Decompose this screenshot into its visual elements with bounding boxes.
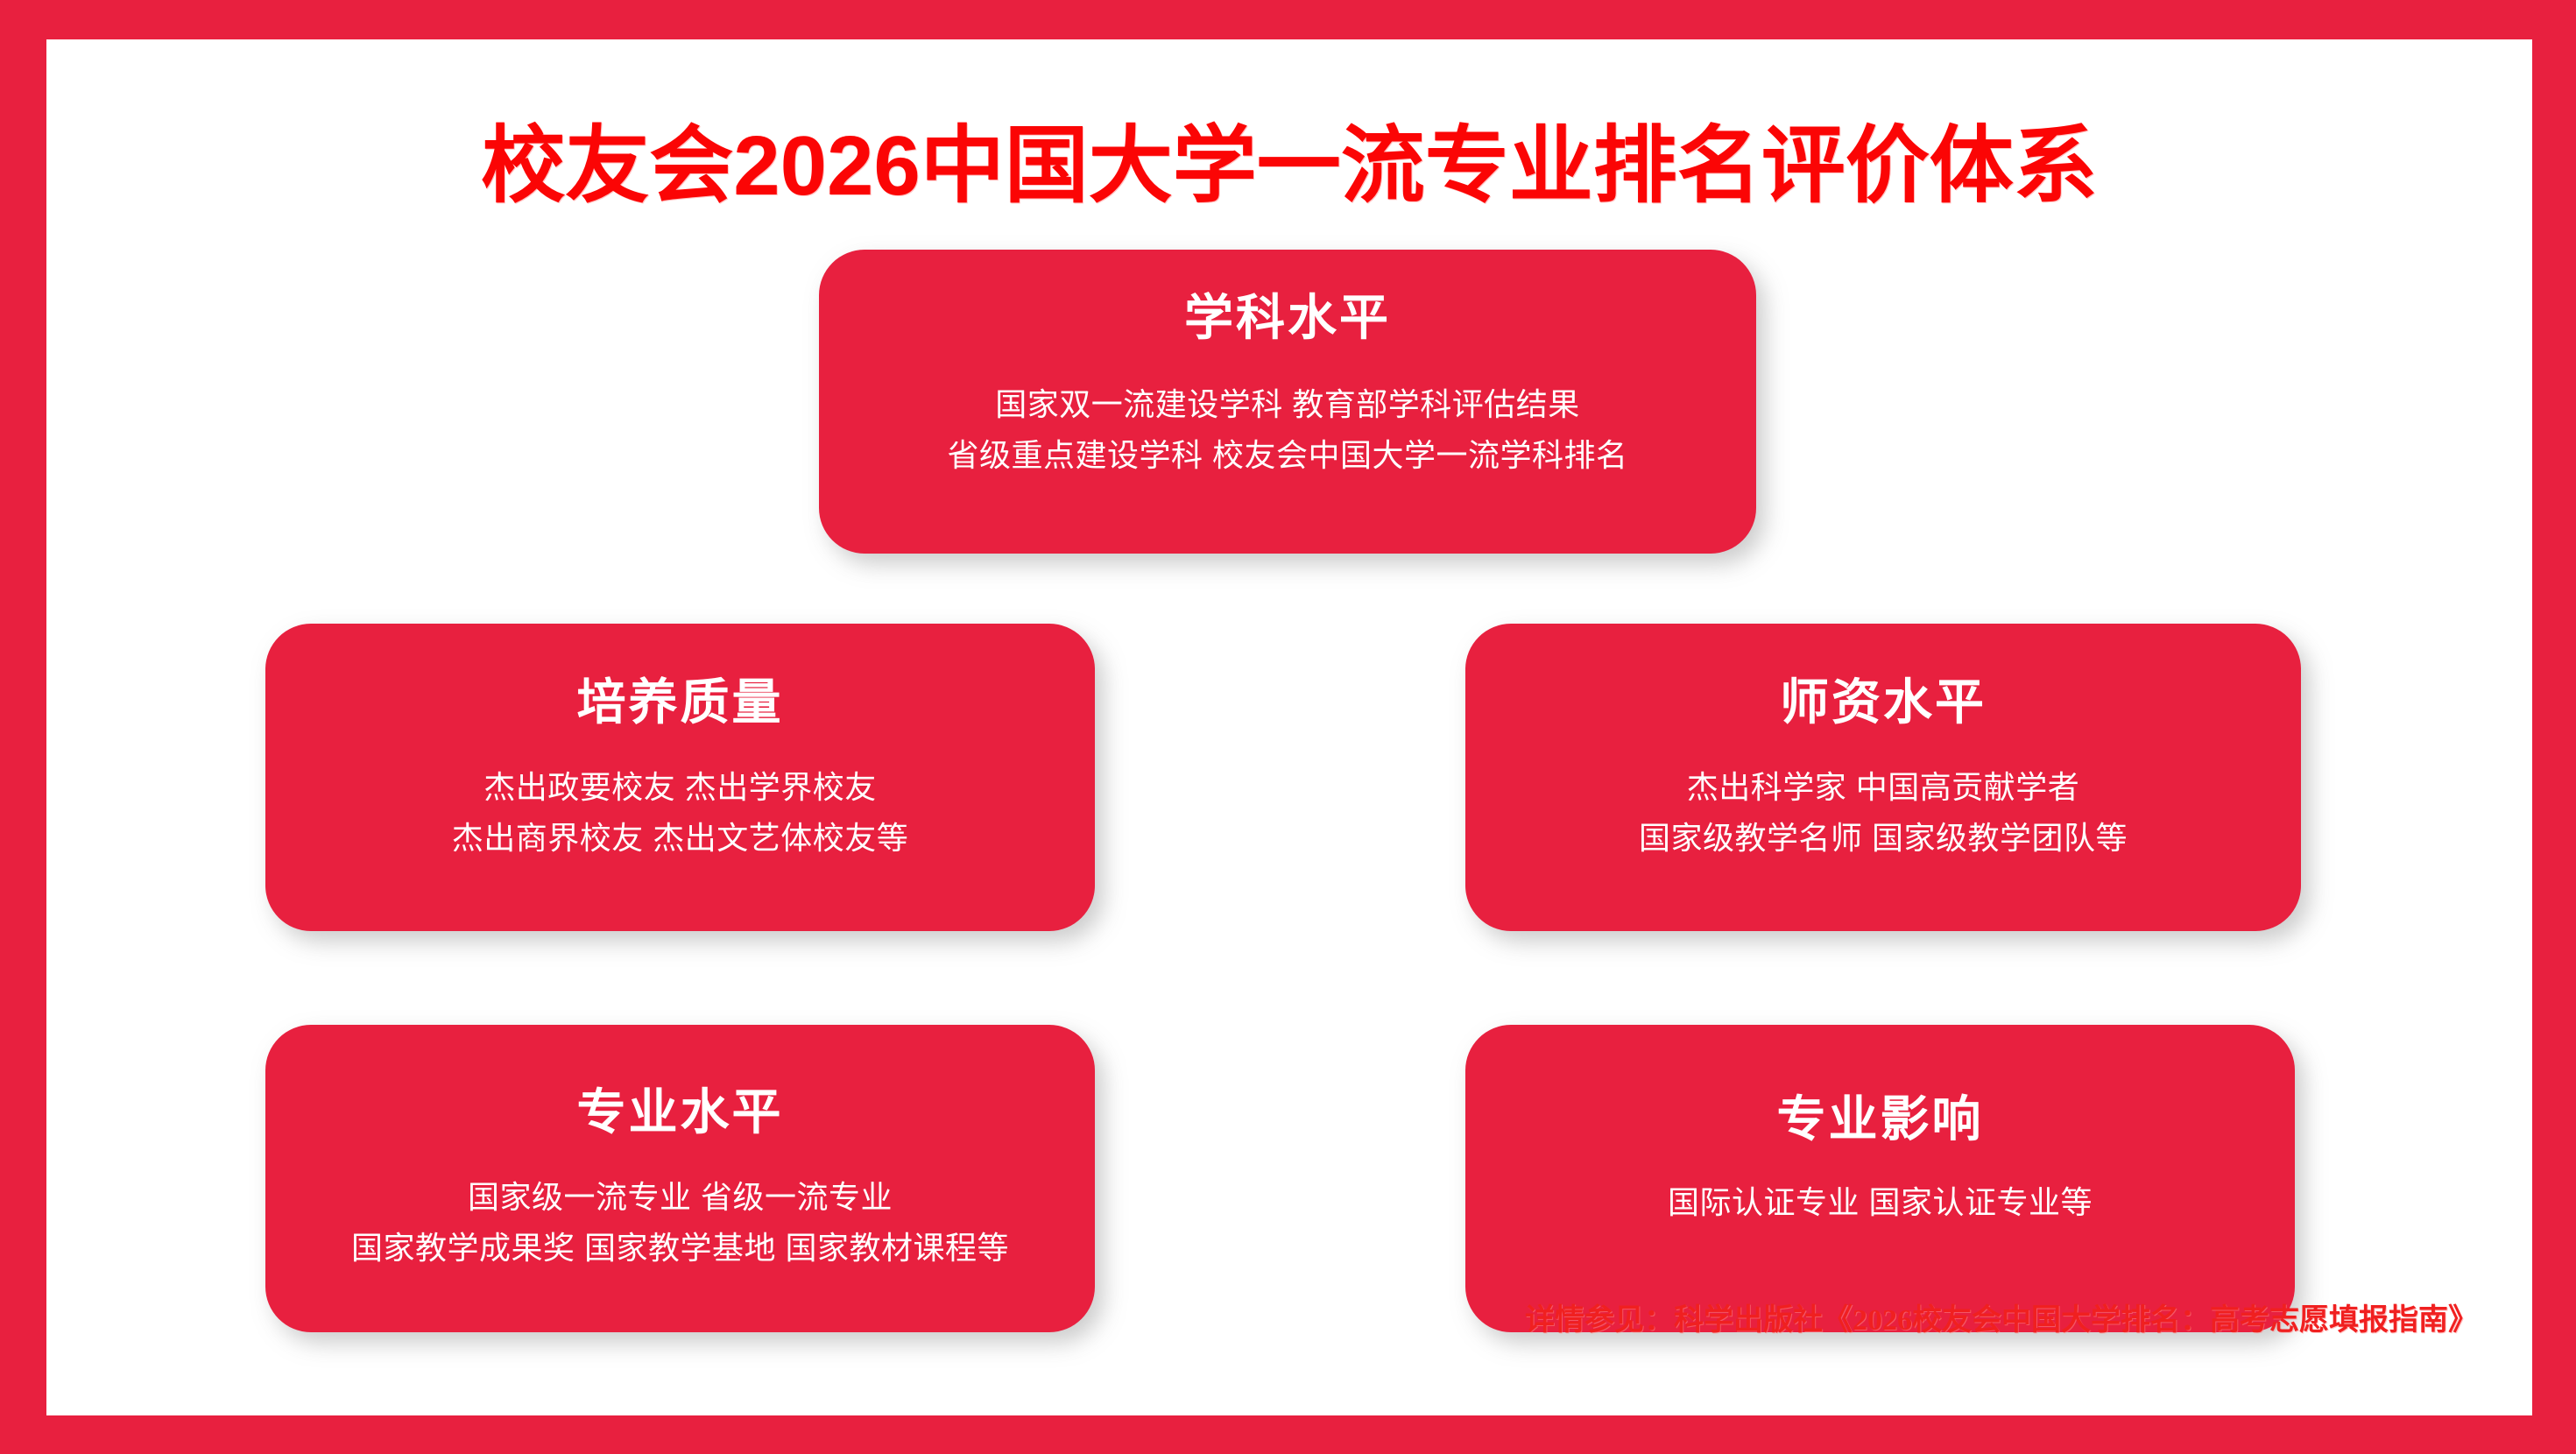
card-detail-line: 杰出政要校友 杰出学界校友 [483,767,877,808]
red-border-frame: 校友会2026中国大学一流专业排名评价体系 学科水平 国家双一流建设学科 教育部… [0,0,2576,1454]
criteria-card-major-level[interactable]: 专业水平 国家级一流专业 省级一流专业 国家教学成果奖 国家教学基地 国家教材课… [265,1025,1095,1332]
card-detail-line: 杰出商界校友 杰出文艺体校友等 [452,818,909,858]
card-title: 师资水平 [1780,678,1987,727]
card-title: 学科水平 [1184,293,1391,342]
card-title: 专业影响 [1777,1095,1984,1144]
content-canvas: 校友会2026中国大学一流专业排名评价体系 学科水平 国家双一流建设学科 教育部… [46,39,2532,1415]
card-detail-line: 省级重点建设学科 校友会中国大学一流学科排名 [947,435,1627,476]
criteria-card-discipline-level[interactable]: 学科水平 国家双一流建设学科 教育部学科评估结果 省级重点建设学科 校友会中国大… [819,250,1756,554]
card-detail-list: 杰出科学家 中国高贡献学者 国家级教学名师 国家级教学团队等 [1639,767,2128,858]
card-title: 培养质量 [577,678,784,727]
card-title: 专业水平 [577,1088,784,1137]
card-detail-line: 国家级一流专业 省级一流专业 [468,1177,893,1218]
card-detail-list: 国家双一流建设学科 教育部学科评估结果 省级重点建设学科 校友会中国大学一流学科… [947,385,1627,476]
criteria-card-faculty-level[interactable]: 师资水平 杰出科学家 中国高贡献学者 国家级教学名师 国家级教学团队等 [1465,624,2301,931]
card-detail-list: 国际认证专业 国家认证专业等 [1668,1182,2093,1223]
card-detail-list: 杰出政要校友 杰出学界校友 杰出商界校友 杰出文艺体校友等 [452,767,909,858]
footer-source-note: 详情参见：科学出版社《2026校友会中国大学排名：高考志愿填报指南》 [1525,1295,2478,1338]
criteria-card-major-influence[interactable]: 专业影响 国际认证专业 国家认证专业等 [1465,1025,2295,1332]
card-detail-list: 国家级一流专业 省级一流专业 国家教学成果奖 国家教学基地 国家教材课程等 [351,1177,1009,1268]
criteria-card-training-quality[interactable]: 培养质量 杰出政要校友 杰出学界校友 杰出商界校友 杰出文艺体校友等 [265,624,1095,931]
card-detail-line: 杰出科学家 中国高贡献学者 [1687,767,2080,808]
card-detail-line: 国家双一流建设学科 教育部学科评估结果 [995,385,1580,425]
card-detail-line: 国家级教学名师 国家级教学团队等 [1639,818,2128,858]
card-detail-line: 国家教学成果奖 国家教学基地 国家教材课程等 [351,1228,1009,1268]
card-detail-line: 国际认证专业 国家认证专业等 [1668,1182,2093,1223]
page-title: 校友会2026中国大学一流专业排名评价体系 [46,123,2532,211]
